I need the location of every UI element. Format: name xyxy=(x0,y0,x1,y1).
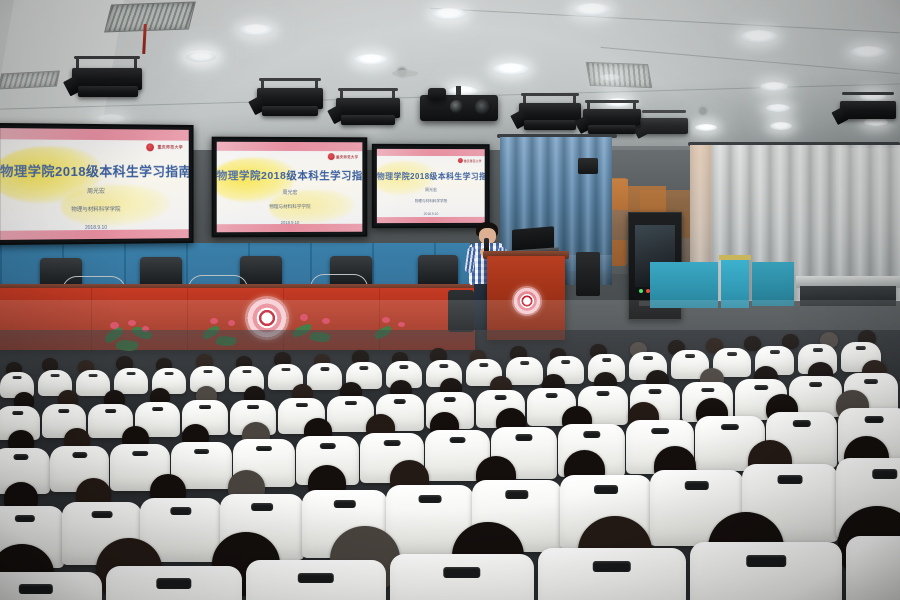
slide-date: 2018.9.10 xyxy=(217,220,363,225)
ceiling-strap xyxy=(142,24,147,54)
downlight xyxy=(96,114,126,124)
sprinkler-head xyxy=(700,108,706,114)
stage-light xyxy=(640,110,688,144)
wall-speaker xyxy=(578,158,598,174)
ceiling-projector xyxy=(420,86,498,130)
slide-left: 重庆师范大学 物理学院2018级本科生学习指南 周光宏 物理与材料科学学院 20… xyxy=(0,128,189,240)
slide-organization: 物理与材料科学学院 xyxy=(0,205,189,214)
slide-title: 物理学院2018级本科生学习指南 xyxy=(377,171,485,182)
slide-center: 重庆师范大学 物理学院2018级本科生学习指南 周光宏 物理与材料科学学院 20… xyxy=(217,142,363,233)
slide-title: 物理学院2018级本科生学习指南 xyxy=(217,168,363,183)
downlight xyxy=(572,3,612,16)
downlight xyxy=(493,63,529,75)
audience xyxy=(0,300,900,600)
screen-left: 重庆师范大学 物理学院2018级本科生学习指南 周光宏 物理与材料科学学院 20… xyxy=(0,123,194,245)
lecture-hall-photo: 重庆师范大学 物理学院2018级本科生学习指南 周光宏 物理与材料科学学院 20… xyxy=(0,0,900,600)
stage-light xyxy=(257,78,323,122)
downlight xyxy=(354,54,388,65)
slide-speaker-name: 周光宏 xyxy=(217,189,363,196)
downlight xyxy=(695,124,717,131)
downlight xyxy=(186,52,216,62)
ceiling-fixture xyxy=(392,70,418,77)
slide-organization: 物理与材料科学学院 xyxy=(217,204,363,210)
downlight xyxy=(431,8,467,20)
stage-light xyxy=(336,88,400,130)
slide-logo-text: 重庆师范大学 xyxy=(336,154,358,159)
downlight xyxy=(766,104,790,112)
slide-right: 重庆师范大学 物理学院2018级本科生学习指南 周光宏 物理与材料科学学院 20… xyxy=(377,149,485,223)
slide-logo-text: 重庆师范大学 xyxy=(464,159,482,163)
slide-logo-text: 重庆师范大学 xyxy=(157,144,183,150)
slide-title: 物理学院2018级本科生学习指南 xyxy=(0,161,189,180)
downlight xyxy=(740,30,778,43)
slide-speaker-name: 周光宏 xyxy=(377,187,485,193)
slide-date: 2018.9.10 xyxy=(377,212,485,216)
stage-light xyxy=(840,92,896,130)
slide-organization: 物理与材料科学学院 xyxy=(377,199,485,204)
floor-speaker xyxy=(576,252,600,296)
downlight xyxy=(770,122,792,130)
slide-speaker-name: 周光宏 xyxy=(0,186,189,195)
stage-light xyxy=(519,93,581,135)
downlight xyxy=(760,82,788,91)
ceiling-seam xyxy=(430,8,899,34)
partition-trim xyxy=(719,255,751,260)
air-vent xyxy=(104,2,196,33)
air-vent xyxy=(0,70,60,89)
screen-right: 重庆师范大学 物理学院2018级本科生学习指南 周光宏 物理与材料科学学院 20… xyxy=(372,144,490,228)
stage-light xyxy=(72,56,142,102)
downlight xyxy=(600,74,620,81)
downlight xyxy=(238,24,274,36)
screen-center: 重庆师范大学 物理学院2018级本科生学习指南 周光宏 物理与材料科学学院 20… xyxy=(212,137,368,238)
downlight xyxy=(850,46,886,58)
handheld-microphone xyxy=(484,238,489,252)
